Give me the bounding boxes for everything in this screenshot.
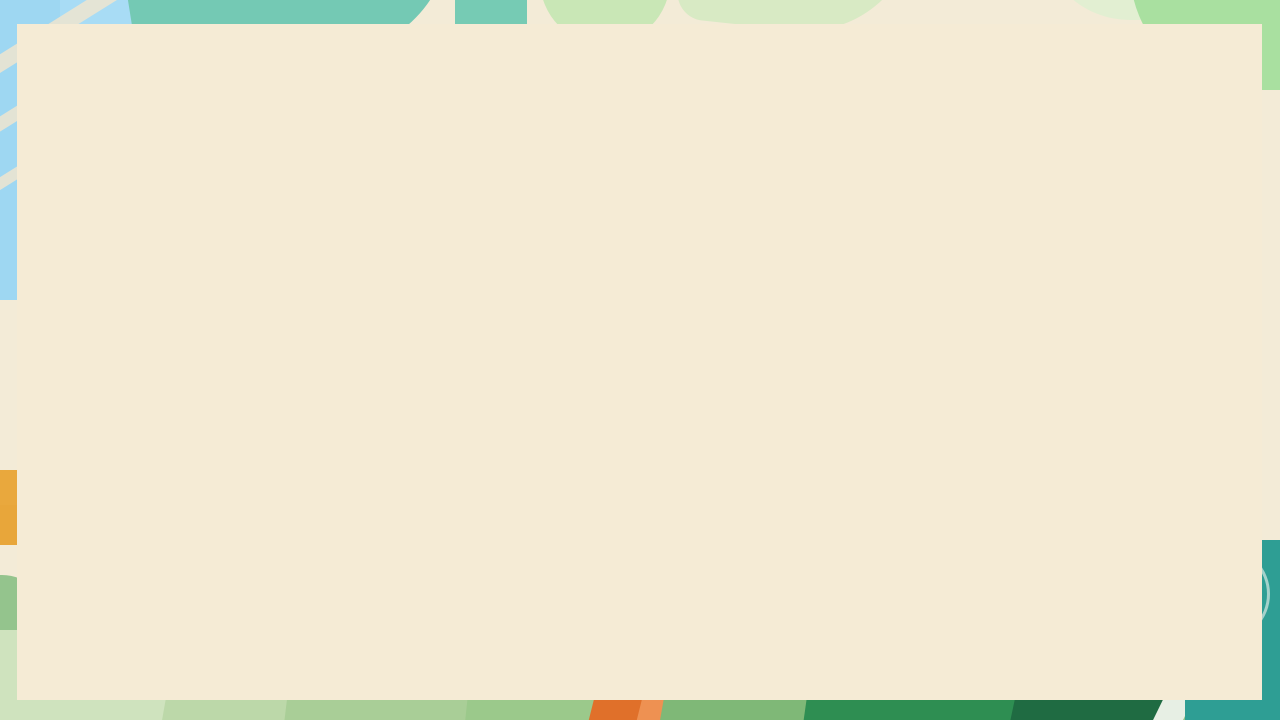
slide-canvas: 木版年画里的美好祈愿 01 爱情与婚姻： 如“天仙送子”和“麒麟送子”等主题，表… [0, 0, 1280, 720]
content-card [17, 24, 1262, 700]
